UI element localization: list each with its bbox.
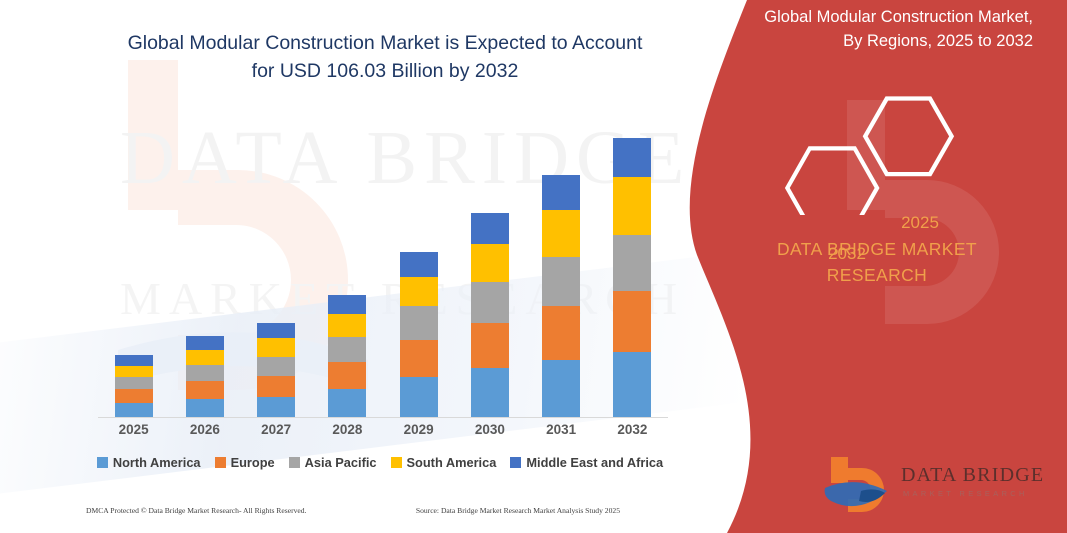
stacked-bar bbox=[613, 138, 651, 417]
bar-segment bbox=[471, 323, 509, 368]
bar-column-2029 bbox=[383, 110, 454, 417]
hexagon-badges: 2025 2032 bbox=[687, 85, 1067, 215]
bar-segment bbox=[542, 360, 580, 417]
bar-segment bbox=[613, 177, 651, 235]
bar-segment bbox=[115, 403, 153, 417]
x-axis-label-2030: 2030 bbox=[454, 422, 525, 437]
bar-segment bbox=[400, 252, 438, 277]
legend-swatch-icon bbox=[391, 457, 402, 468]
stacked-bar bbox=[471, 213, 509, 417]
stacked-bar bbox=[542, 175, 580, 417]
x-axis-label-2031: 2031 bbox=[526, 422, 597, 437]
bar-segment bbox=[186, 336, 224, 350]
bar-segment bbox=[115, 377, 153, 389]
bar-segment bbox=[257, 357, 295, 376]
bar-segment bbox=[400, 277, 438, 306]
bar-segment bbox=[542, 175, 580, 210]
footer-source: Source: Data Bridge Market Research Mark… bbox=[416, 506, 620, 515]
bar-column-2031 bbox=[526, 110, 597, 417]
page-title-line-2: for USD 106.03 Billion by 2032 bbox=[60, 58, 710, 86]
bar-segment bbox=[613, 291, 651, 352]
stacked-bar bbox=[328, 295, 366, 417]
bar-column-2026 bbox=[169, 110, 240, 417]
bar-segment bbox=[471, 368, 509, 417]
chart-legend: North AmericaEuropeAsia PacificSouth Ame… bbox=[60, 455, 700, 470]
legend-item[interactable]: Middle East and Africa bbox=[510, 455, 663, 470]
brand-line-2: RESEARCH bbox=[687, 262, 1067, 288]
bar-segment bbox=[471, 282, 509, 323]
legend-swatch-icon bbox=[289, 457, 300, 468]
legend-label: Asia Pacific bbox=[305, 455, 377, 470]
region-panel: Global Modular Construction Market, By R… bbox=[687, 0, 1067, 533]
brand-line-1: DATA BRIDGE MARKET bbox=[687, 236, 1067, 262]
bar-segment bbox=[471, 244, 509, 282]
bar-segment bbox=[186, 381, 224, 399]
x-axis-label-2025: 2025 bbox=[98, 422, 169, 437]
x-axis-label-2026: 2026 bbox=[169, 422, 240, 437]
bar-column-2030 bbox=[454, 110, 525, 417]
brand-name: DATA BRIDGE MARKET RESEARCH bbox=[687, 236, 1067, 289]
bar-segment bbox=[115, 366, 153, 377]
panel-title-line-1: Global Modular Construction Market, bbox=[707, 6, 1033, 30]
footer-copyright: DMCA Protected © Data Bridge Market Rese… bbox=[86, 506, 306, 515]
stacked-bar bbox=[115, 355, 153, 417]
legend-item[interactable]: North America bbox=[97, 455, 201, 470]
bar-column-2028 bbox=[312, 110, 383, 417]
x-axis-label-2032: 2032 bbox=[597, 422, 668, 437]
bar-segment bbox=[328, 314, 366, 337]
chart-bars bbox=[98, 110, 668, 417]
bar-segment bbox=[186, 350, 224, 365]
bar-segment bbox=[115, 389, 153, 403]
x-axis-line bbox=[98, 417, 668, 418]
x-axis-labels: 20252026202720282029203020312032 bbox=[98, 422, 668, 437]
stacked-bar bbox=[186, 336, 224, 417]
bar-segment bbox=[186, 399, 224, 417]
legend-item[interactable]: South America bbox=[391, 455, 497, 470]
bar-segment bbox=[186, 365, 224, 381]
stacked-bar bbox=[400, 252, 438, 417]
bar-segment bbox=[257, 397, 295, 417]
bar-segment bbox=[542, 306, 580, 360]
bar-segment bbox=[542, 210, 580, 257]
bar-segment bbox=[257, 376, 295, 397]
bar-segment bbox=[613, 138, 651, 177]
stacked-bar bbox=[257, 323, 295, 417]
page-title: Global Modular Construction Market is Ex… bbox=[60, 30, 710, 85]
data-bridge-logo-icon: DATA BRIDGE MARKET RESEARCH bbox=[817, 455, 1047, 513]
bar-segment bbox=[257, 323, 295, 338]
legend-label: North America bbox=[113, 455, 201, 470]
bar-segment bbox=[328, 389, 366, 417]
bar-column-2025 bbox=[98, 110, 169, 417]
bar-segment bbox=[613, 352, 651, 417]
panel-title: Global Modular Construction Market, By R… bbox=[707, 6, 1047, 54]
bar-column-2032 bbox=[597, 110, 668, 417]
bar-segment bbox=[542, 257, 580, 306]
bar-segment bbox=[613, 235, 651, 291]
legend-label: Middle East and Africa bbox=[526, 455, 663, 470]
legend-swatch-icon bbox=[97, 457, 108, 468]
legend-item[interactable]: Europe bbox=[215, 455, 275, 470]
hexagon-outlines-icon bbox=[687, 85, 1067, 215]
bar-segment bbox=[400, 377, 438, 417]
legend-swatch-icon bbox=[215, 457, 226, 468]
company-logo: DATA BRIDGE MARKET RESEARCH bbox=[817, 455, 1047, 513]
hex-label-start: 2025 bbox=[880, 213, 960, 233]
page-title-line-1: Global Modular Construction Market is Ex… bbox=[60, 30, 710, 58]
svg-text:MARKET RESEARCH: MARKET RESEARCH bbox=[903, 489, 1028, 498]
legend-item[interactable]: Asia Pacific bbox=[289, 455, 377, 470]
bar-segment bbox=[257, 338, 295, 357]
bar-segment bbox=[328, 362, 366, 389]
svg-text:DATA BRIDGE: DATA BRIDGE bbox=[901, 464, 1044, 486]
bar-segment bbox=[471, 213, 509, 244]
bar-column-2027 bbox=[241, 110, 312, 417]
legend-swatch-icon bbox=[510, 457, 521, 468]
bar-segment bbox=[400, 340, 438, 377]
legend-label: Europe bbox=[231, 455, 275, 470]
bar-segment bbox=[328, 295, 366, 314]
bar-segment bbox=[328, 337, 366, 362]
bar-segment bbox=[115, 355, 153, 366]
bar-segment bbox=[400, 306, 438, 340]
panel-title-line-2: By Regions, 2025 to 2032 bbox=[707, 30, 1033, 54]
x-axis-label-2028: 2028 bbox=[312, 422, 383, 437]
legend-label: South America bbox=[407, 455, 497, 470]
infographic-root: DATA BRIDGE MARKET RESEARCH Global Modul… bbox=[0, 0, 1067, 533]
x-axis-label-2029: 2029 bbox=[383, 422, 454, 437]
x-axis-label-2027: 2027 bbox=[241, 422, 312, 437]
footer: DMCA Protected © Data Bridge Market Rese… bbox=[0, 506, 700, 515]
